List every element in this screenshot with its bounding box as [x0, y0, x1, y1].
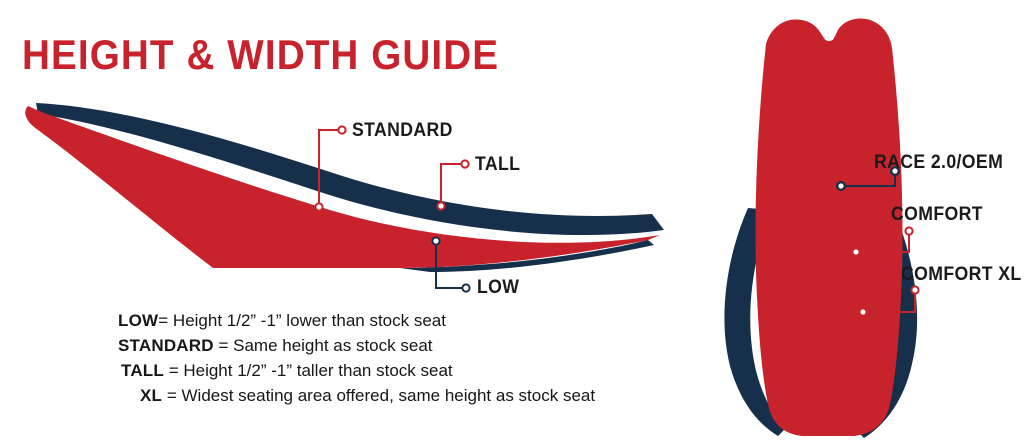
- legend-desc-low: = Height 1/2” -1” lower than stock seat: [158, 311, 446, 330]
- legend-desc-tall: = Height 1/2” -1” taller than stock seat: [164, 361, 453, 380]
- legend-block: LOW= Height 1/2” -1” lower than stock se…: [118, 308, 678, 408]
- callout-tall-end-dot: [461, 160, 468, 167]
- callout-comfort-end-dot: [905, 227, 912, 234]
- callout-label-low: LOW: [477, 278, 519, 297]
- callout-standard-anchor-dot: [315, 203, 322, 210]
- legend-row-xl: XL = Widest seating area offered, same h…: [118, 383, 678, 408]
- legend-term-standard: STANDARD: [118, 336, 214, 355]
- legend-row-tall: TALL = Height 1/2” -1” taller than stock…: [118, 358, 678, 383]
- callout-label-comfort: COMFORT: [891, 205, 983, 224]
- callout-low-anchor-dot: [432, 237, 439, 244]
- callout-low-end-dot: [462, 284, 469, 291]
- callout-comfort-xl-anchor-dot: [859, 308, 866, 315]
- callout-race-anchor-dot: [837, 182, 845, 190]
- callout-comfort-xl-end-dot: [911, 286, 918, 293]
- height-width-guide-infographic: HEIGHT & WIDTH GUIDE: [0, 0, 1024, 446]
- callout-tall: [437, 160, 468, 209]
- callout-standard-end-dot: [338, 126, 345, 133]
- legend-term-xl: XL: [140, 386, 162, 405]
- callout-comfort-anchor-dot: [852, 248, 859, 255]
- legend-term-tall: TALL: [121, 361, 164, 380]
- seat-side-view-diagram: [0, 0, 700, 310]
- callout-tall-anchor-dot: [437, 202, 444, 209]
- legend-row-standard: STANDARD = Same height as stock seat: [118, 333, 678, 358]
- legend-row-low: LOW= Height 1/2” -1” lower than stock se…: [118, 308, 678, 333]
- legend-desc-standard: = Same height as stock seat: [214, 336, 433, 355]
- callout-label-tall: TALL: [475, 155, 520, 174]
- callout-label-race: RACE 2.0/OEM: [874, 153, 1003, 172]
- callout-label-comfort-xl: COMFORT XL: [901, 265, 1022, 284]
- seat-top-red-body: [755, 18, 902, 436]
- callout-label-standard: STANDARD: [352, 121, 453, 140]
- callout-tall-line: [441, 164, 463, 206]
- legend-term-low: LOW: [118, 311, 158, 330]
- legend-desc-xl: = Widest seating area offered, same heig…: [162, 386, 595, 405]
